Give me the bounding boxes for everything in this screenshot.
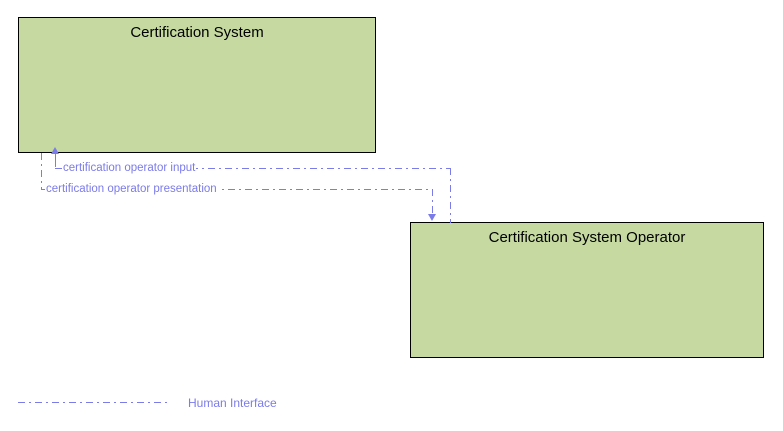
node-certification-system-operator[interactable]: Certification System Operator [410, 222, 764, 358]
flow-presentation-vertical-left [41, 153, 42, 189]
flow-input-vertical-left-stub [55, 153, 56, 161]
flow-input-vertical-left [55, 160, 56, 168]
node-certification-system-label: Certification System [19, 23, 375, 43]
flow-label-certification-operator-input: certification operator input [62, 162, 196, 175]
diagram-canvas: Certification System Certification Syste… [0, 0, 783, 431]
legend-label-human-interface: Human Interface [188, 394, 277, 412]
flow-presentation-arrowhead-down [428, 214, 436, 221]
node-certification-system[interactable]: Certification System [18, 17, 376, 153]
flow-input-vertical-right [450, 168, 451, 223]
flow-presentation-vertical-right [432, 189, 433, 214]
legend-line-sample [18, 402, 170, 403]
flow-label-certification-operator-presentation: certification operator presentation [45, 183, 218, 196]
node-certification-system-operator-label: Certification System Operator [411, 228, 763, 248]
